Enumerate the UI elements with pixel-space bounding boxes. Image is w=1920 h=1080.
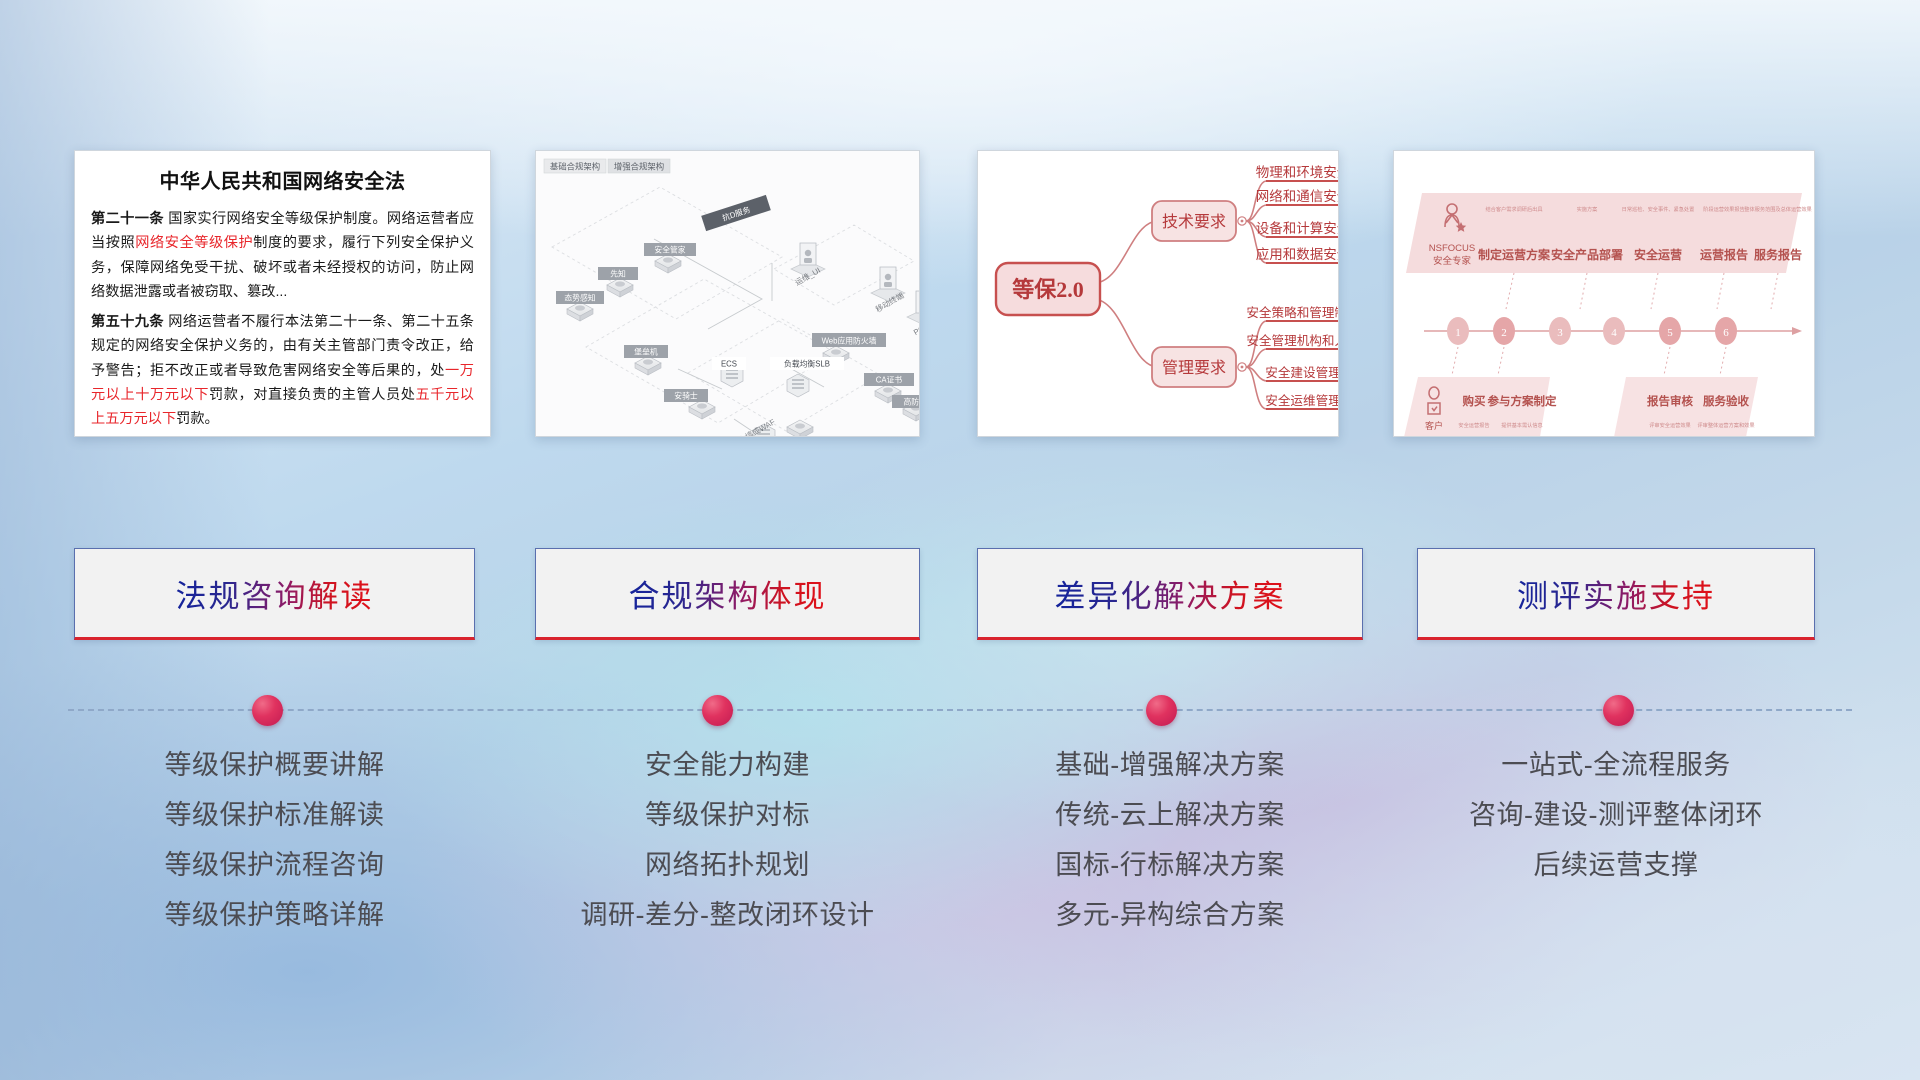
svg-text:评审安全运营效果: 评审安全运营效果 — [1649, 421, 1691, 429]
svg-text:基础合规架构: 基础合规架构 — [550, 162, 600, 172]
mindmap-root-label: 等保2.0 — [1012, 277, 1084, 302]
law-title: 中华人民共和国网络安全法 — [91, 165, 474, 194]
svg-text:报告审核: 报告审核 — [1647, 394, 1693, 408]
architecture-diagram: 基础合规架构 增强合规架构 — [536, 151, 919, 436]
law-run: 罚款。 — [176, 411, 219, 427]
pillar-label: 合规架构体现 — [629, 571, 827, 616]
roadmap-card[interactable]: NSFOCUS 安全专家 结合客户需求调研后出具 制定运营方案 实施方案 安全产… — [1393, 150, 1815, 437]
svg-text:物理和环境安全: 物理和环境安全 — [1256, 164, 1339, 180]
svg-text:安全管理机构和人员: 安全管理机构和人员 — [1246, 333, 1339, 348]
timeline-node-3[interactable] — [1146, 695, 1177, 726]
mindmap-root-node: 等保2.0 — [996, 263, 1100, 315]
list-item: 调研-差分-整改闭环设计 — [535, 890, 920, 940]
svg-text:提供基本需认信息: 提供基本需认信息 — [1501, 421, 1543, 429]
column-regulation-consulting: 等级保护概要讲解 等级保护标准解读 等级保护流程咨询 等级保护策略详解 — [74, 740, 475, 940]
svg-text:评审整体运营方案和效果: 评审整体运营方案和效果 — [1697, 421, 1754, 429]
svg-text:安全管家: 安全管家 — [654, 245, 685, 255]
svg-text:服务验收: 服务验收 — [1703, 394, 1749, 408]
svg-text:应用和数据安全: 应用和数据安全 — [1256, 246, 1339, 262]
svg-text:增强合规架构: 增强合规架构 — [614, 162, 664, 172]
pillar-differentiated-solution[interactable]: 差异化解决方案 — [977, 548, 1363, 640]
expert-label-line1: NSFOCUS — [1429, 243, 1475, 254]
svg-text:5: 5 — [1667, 327, 1673, 339]
law-article-label: 第二十一条 — [91, 211, 164, 227]
list-item: 等级保护对标 — [535, 790, 920, 840]
customer-label: 客户 — [1425, 420, 1443, 431]
pillar-label: 差异化解决方案 — [1055, 571, 1286, 616]
list-item: 传统-云上解决方案 — [977, 790, 1363, 840]
architecture-labels: 态势感知 先知 安全管家 堡垒机 安骑士 OCS缓存 RDS数据库 数据库审计 … — [556, 195, 920, 437]
svg-text:购买: 购买 — [1463, 394, 1486, 408]
list-item: 国标-行标解决方案 — [977, 840, 1363, 890]
roadmap-diagram: NSFOCUS 安全专家 结合客户需求调研后出具 制定运营方案 实施方案 安全产… — [1394, 151, 1814, 436]
svg-text:阶段运营效果报告: 阶段运营效果报告 — [1703, 205, 1745, 213]
svg-text:CA证书: CA证书 — [876, 375, 903, 385]
list-item: 一站式-全流程服务 — [1417, 740, 1815, 790]
architecture-tabs: 基础合规架构 增强合规架构 — [544, 159, 670, 173]
svg-text:制定运营方案: 制定运营方案 — [1478, 247, 1551, 262]
svg-text:网络和通信安全: 网络和通信安全 — [1256, 188, 1339, 204]
svg-text:设备和计算安全: 设备和计算安全 — [1256, 220, 1339, 236]
architecture-svg: 基础合规架构 增强合规架构 — [536, 151, 920, 437]
list-item: 等级保护概要讲解 — [74, 740, 475, 790]
svg-text:实施方案: 实施方案 — [1577, 205, 1599, 213]
expert-label-line2: 安全专家 — [1433, 255, 1472, 267]
mindmap-branch-technical: 技术要求 — [1152, 164, 1339, 263]
list-item: 网络拓扑规划 — [535, 840, 920, 890]
svg-text:6: 6 — [1723, 327, 1729, 339]
law-body: 中华人民共和国网络安全法 第二十一条 国家实行网络安全等级保护制度。网络运营者应… — [75, 151, 490, 437]
list-item: 等级保护流程咨询 — [74, 840, 475, 890]
list-item: 后续运营支撑 — [1417, 840, 1815, 890]
svg-text:4: 4 — [1611, 327, 1617, 339]
list-item: 等级保护策略详解 — [74, 890, 475, 940]
svg-text:先知: 先知 — [610, 269, 626, 279]
timeline — [0, 688, 1920, 732]
law-run: 罚款，对直接负责的主管人员处 — [209, 387, 416, 403]
pillar-compliance-architecture[interactable]: 合规架构体现 — [535, 548, 920, 640]
list-item: 多元-异构综合方案 — [977, 890, 1363, 940]
slide-stage: 中华人民共和国网络安全法 第二十一条 国家实行网络安全等级保护制度。网络运营者应… — [0, 0, 1920, 1080]
list-item: 安全能力构建 — [535, 740, 920, 790]
svg-text:1: 1 — [1455, 327, 1461, 339]
pillar-row: 法规咨询解读 合规架构体现 差异化解决方案 测评实施支持 — [0, 548, 1920, 644]
svg-text:负载均衡SLB: 负载均衡SLB — [784, 359, 830, 369]
svg-text:安全产品部署: 安全产品部署 — [1551, 247, 1623, 262]
column-evaluation-support: 一站式-全流程服务 咨询-建设-测评整体闭环 后续运营支撑 — [1417, 740, 1815, 890]
list-item: 等级保护标准解读 — [74, 790, 475, 840]
svg-text:服务报告: 服务报告 — [1754, 247, 1802, 262]
svg-text:安全运维管理: 安全运维管理 — [1265, 393, 1339, 408]
svg-text:安全运营: 安全运营 — [1634, 247, 1682, 262]
svg-text:结合客户需求调研后出具: 结合客户需求调研后出具 — [1485, 205, 1542, 213]
pillar-label: 测评实施支持 — [1517, 571, 1715, 616]
svg-text:3: 3 — [1557, 327, 1563, 339]
list-item: 咨询-建设-测评整体闭环 — [1417, 790, 1815, 840]
svg-text:安全运营报告: 安全运营报告 — [1458, 421, 1489, 429]
law-run-highlight: 网络安全等级保护 — [135, 235, 253, 251]
mindmap-branch-label: 管理要求 — [1162, 359, 1226, 377]
svg-text:2: 2 — [1501, 327, 1507, 339]
mindmap-branch-management: 管理要求 — [1152, 305, 1339, 409]
law-text-card[interactable]: 中华人民共和国网络安全法 第二十一条 国家实行网络安全等级保护制度。网络运营者应… — [74, 150, 491, 437]
roadmap-svg: NSFOCUS 安全专家 结合客户需求调研后出具 制定运营方案 实施方案 安全产… — [1394, 151, 1815, 437]
timeline-node-4[interactable] — [1603, 695, 1634, 726]
pillar-evaluation-support[interactable]: 测评实施支持 — [1417, 548, 1815, 640]
svg-text:安全策略和管理制度: 安全策略和管理制度 — [1246, 305, 1339, 320]
mindmap-connectors — [1096, 221, 1156, 367]
architecture-zones — [552, 187, 914, 431]
list-item: 基础-增强解决方案 — [977, 740, 1363, 790]
mindmap-svg: 等保2.0 技术要求 — [978, 151, 1339, 437]
timeline-node-2[interactable] — [702, 695, 733, 726]
svg-text:整体服务范围及总体运营效果: 整体服务范围及总体运营效果 — [1744, 205, 1811, 213]
svg-text:堡垒机: 堡垒机 — [634, 347, 658, 357]
svg-text:日常巡检、安全事件、紧急处置: 日常巡检、安全事件、紧急处置 — [1622, 205, 1695, 213]
mindmap-diagram: 等保2.0 技术要求 — [978, 151, 1338, 436]
svg-text:ECS: ECS — [721, 360, 737, 369]
svg-text:态势感知: 态势感知 — [564, 293, 595, 303]
timeline-dashed-line — [68, 709, 1852, 711]
svg-text:高防IP: 高防IP — [904, 397, 920, 407]
column-compliance-architecture: 安全能力构建 等级保护对标 网络拓扑规划 调研-差分-整改闭环设计 — [535, 740, 920, 940]
pillar-label: 法规咨询解读 — [176, 571, 374, 616]
law-paragraph-59: 第五十九条 网络运营者不履行本法第二十一条、第二十五条规定的网络安全保护义务的，… — [91, 310, 474, 432]
mindmap-branch-label: 技术要求 — [1162, 213, 1226, 231]
mindmap-card[interactable]: 等保2.0 技术要求 — [977, 150, 1339, 437]
svg-text:安骑士: 安骑士 — [674, 391, 698, 401]
svg-text:Web应用防火墙: Web应用防火墙 — [822, 336, 877, 346]
architecture-card[interactable]: 基础合规架构 增强合规架构 — [535, 150, 920, 437]
svg-text:参与方案制定: 参与方案制定 — [1487, 394, 1557, 408]
thumbnail-row: 中华人民共和国网络安全法 第二十一条 国家实行网络安全等级保护制度。网络运营者应… — [0, 150, 1920, 440]
column-differentiated-solution: 基础-增强解决方案 传统-云上解决方案 国标-行标解决方案 多元-异构综合方案 — [977, 740, 1363, 940]
svg-text:运营报告: 运营报告 — [1700, 247, 1748, 262]
law-article-label: 第五十九条 — [91, 314, 164, 330]
mindmap-leaf-labels: 物理和环境安全 网络和通信安全 设备和计算安全 应用和数据安全 — [1256, 164, 1339, 262]
pillar-regulation-consulting[interactable]: 法规咨询解读 — [74, 548, 475, 640]
law-paragraph-21: 第二十一条 国家实行网络安全等级保护制度。网络运营者应当按照网络安全等级保护制度… — [91, 207, 474, 305]
timeline-node-1[interactable] — [252, 695, 283, 726]
roadmap-droplines-top — [1506, 273, 1778, 309]
detail-columns: 等级保护概要讲解 等级保护标准解读 等级保护流程咨询 等级保护策略详解 安全能力… — [0, 740, 1920, 980]
svg-text:安全建设管理: 安全建设管理 — [1265, 365, 1339, 380]
roadmap-droplines-bottom — [1452, 347, 1726, 375]
